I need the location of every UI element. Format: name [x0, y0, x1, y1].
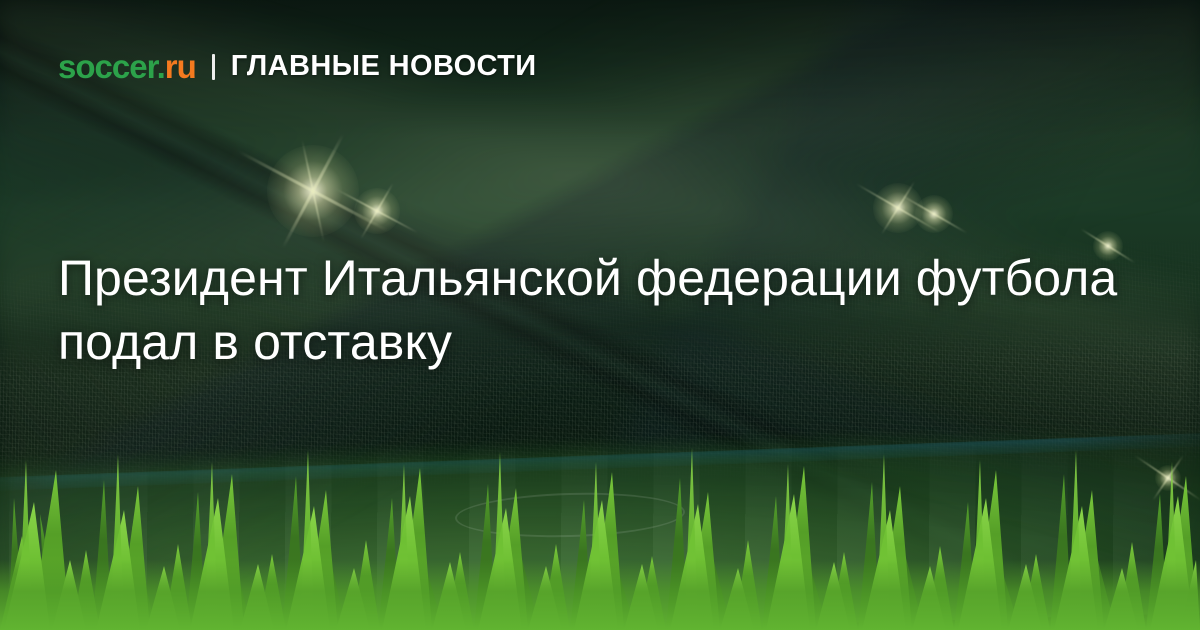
- logo-word-ru: ru: [165, 48, 196, 85]
- logo-dot: .: [157, 48, 165, 85]
- header-kicker-label: ГЛАВНЫЕ НОВОСТИ: [231, 52, 537, 81]
- news-share-card: soccer.ru ГЛАВНЫЕ НОВОСТИ Президент Итал…: [0, 0, 1200, 630]
- article-headline: Президент Итальянской федерации футбола …: [58, 247, 1118, 374]
- logo-word-soccer: soccer: [58, 48, 157, 85]
- site-logo[interactable]: soccer.ru: [58, 50, 196, 83]
- site-header: soccer.ru ГЛАВНЫЕ НОВОСТИ: [58, 50, 537, 83]
- header-separator: [212, 54, 215, 80]
